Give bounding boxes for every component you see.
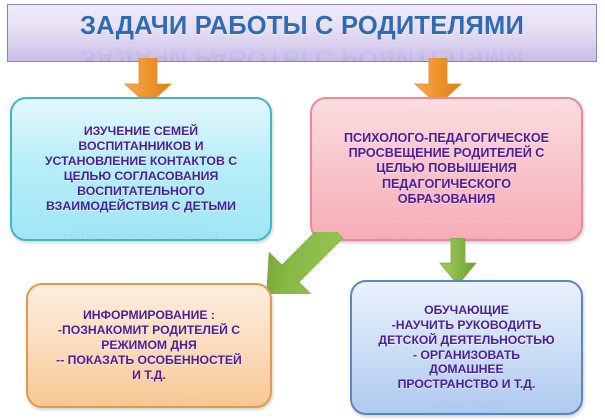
page-title-reflection: ЗАДАЧИ РАБОТЫ С РОДИТЕЛЯМИ	[8, 43, 596, 63]
title-banner: ЗАДАЧИ РАБОТЫ С РОДИТЕЛЯМИ ЗАДАЧИ РАБОТЫ…	[7, 4, 597, 62]
slide-canvas: ЗАДАЧИ РАБОТЫ С РОДИТЕЛЯМИ ЗАДАЧИ РАБОТЫ…	[0, 0, 605, 420]
task-box-teaching: ОБУЧАЮЩИЕ -НАУЧИТЬ РУКОВОДИТЬ ДЕТСКОЙ ДЕ…	[350, 280, 583, 415]
task-box-study-families-label: ИЗУЧЕНИЕ СЕМЕЙ ВОСПИТАННИКОВ И УСТАНОВЛЕ…	[37, 120, 245, 218]
task-box-informing-label: ИНФОРМИРОВАНИЕ : -ПОЗНАКОМИТ РОДИТЕЛЕЙ С…	[48, 304, 250, 386]
task-box-psycho-pedagogical-label: ПСИХОЛОГО-ПЕДАГОГИЧЕСКОЕ ПРОСВЕЩЕНИЕ РОД…	[336, 127, 557, 212]
task-box-teaching-label: ОБУЧАЮЩИЕ -НАУЧИТЬ РУКОВОДИТЬ ДЕТСКОЙ ДЕ…	[370, 299, 562, 396]
page-title: ЗАДАЧИ РАБОТЫ С РОДИТЕЛЯМИ	[8, 12, 596, 41]
task-box-informing: ИНФОРМИРОВАНИЕ : -ПОЗНАКОМИТ РОДИТЕЛЕЙ С…	[26, 283, 272, 408]
task-box-study-families: ИЗУЧЕНИЕ СЕМЕЙ ВОСПИТАННИКОВ И УСТАНОВЛЕ…	[10, 97, 272, 241]
arrow-down-icon	[438, 238, 478, 286]
task-box-psycho-pedagogical: ПСИХОЛОГО-ПЕДАГОГИЧЕСКОЕ ПРОСВЕЩЕНИЕ РОД…	[310, 97, 583, 241]
